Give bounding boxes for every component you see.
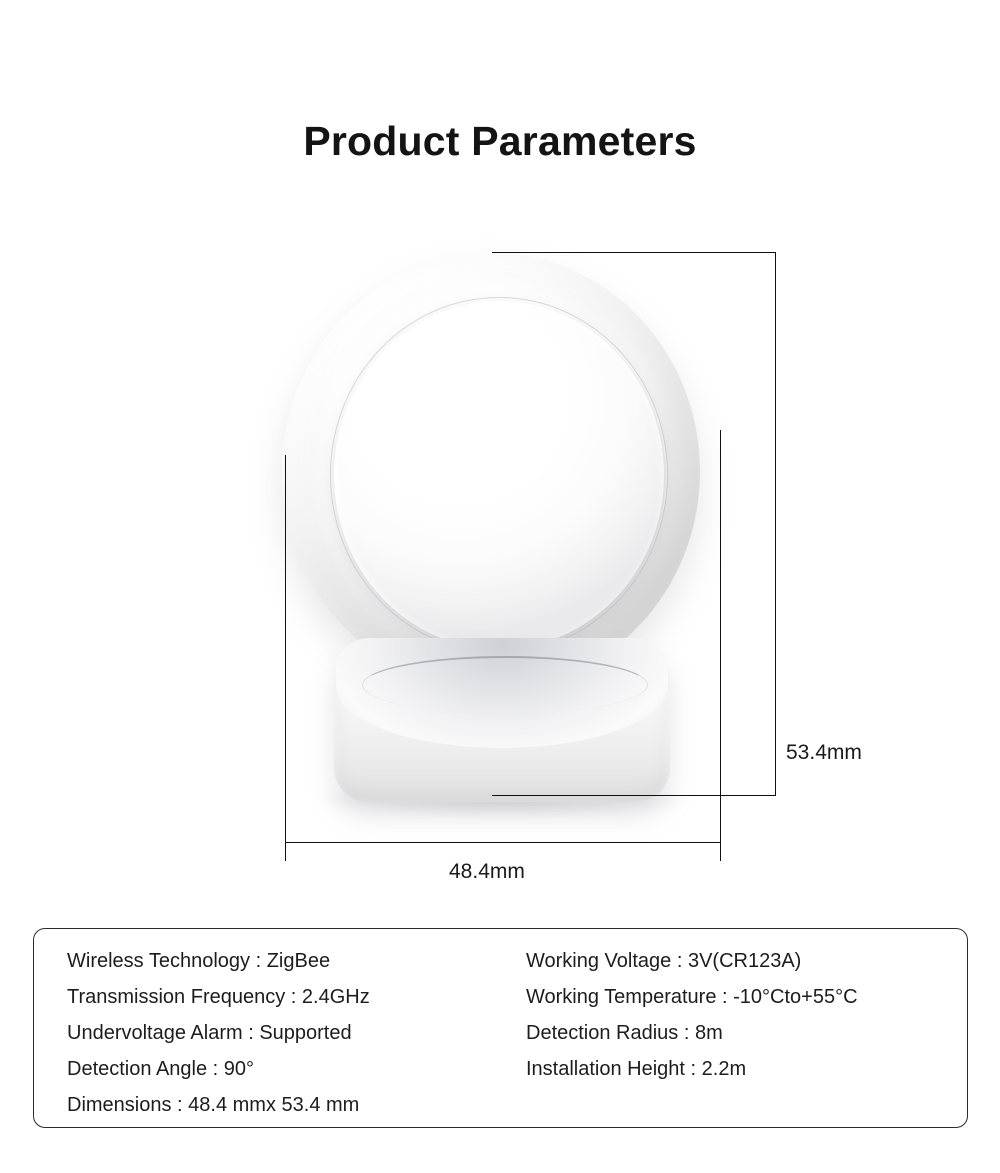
spec-item: Working Voltage : 3V(CR123A) bbox=[526, 943, 858, 979]
height-dimension-label: 53.4mm bbox=[786, 741, 862, 765]
spec-item: Installation Height : 2.2m bbox=[526, 1051, 858, 1087]
spec-item: Detection Angle : 90° bbox=[67, 1051, 370, 1087]
height-dimension-bottom-leader bbox=[492, 795, 776, 796]
sensor-base-pedestal bbox=[334, 642, 670, 802]
specification-box: Wireless Technology : ZigBee Transmissio… bbox=[33, 928, 968, 1128]
base-saddle-cradle bbox=[336, 638, 668, 748]
product-figure: 53.4mm 48.4mm bbox=[0, 230, 1000, 890]
spec-item: Wireless Technology : ZigBee bbox=[67, 943, 370, 979]
width-dimension-left-extension bbox=[285, 455, 286, 861]
spec-item: Working Temperature : -10°Cto+55°C bbox=[526, 979, 858, 1015]
spec-item: Dimensions : 48.4 mmx 53.4 mm bbox=[67, 1087, 370, 1123]
spec-item: Transmission Frequency : 2.4GHz bbox=[67, 979, 370, 1015]
spec-item: Undervoltage Alarm : Supported bbox=[67, 1015, 370, 1051]
height-dimension-line bbox=[775, 252, 776, 796]
spec-item: Detection Radius : 8m bbox=[526, 1015, 858, 1051]
base-saddle-edge bbox=[362, 656, 648, 714]
sensor-body-sphere bbox=[282, 253, 700, 690]
specification-column-left: Wireless Technology : ZigBee Transmissio… bbox=[67, 943, 370, 1123]
sensor-seam-ring bbox=[330, 297, 668, 653]
height-dimension-top-leader bbox=[492, 252, 776, 253]
specification-column-right: Working Voltage : 3V(CR123A) Working Tem… bbox=[526, 943, 858, 1087]
page-title: Product Parameters bbox=[0, 118, 1000, 165]
width-dimension-right-extension bbox=[720, 430, 721, 861]
width-dimension-label: 48.4mm bbox=[449, 860, 525, 884]
width-dimension-line bbox=[285, 842, 721, 843]
